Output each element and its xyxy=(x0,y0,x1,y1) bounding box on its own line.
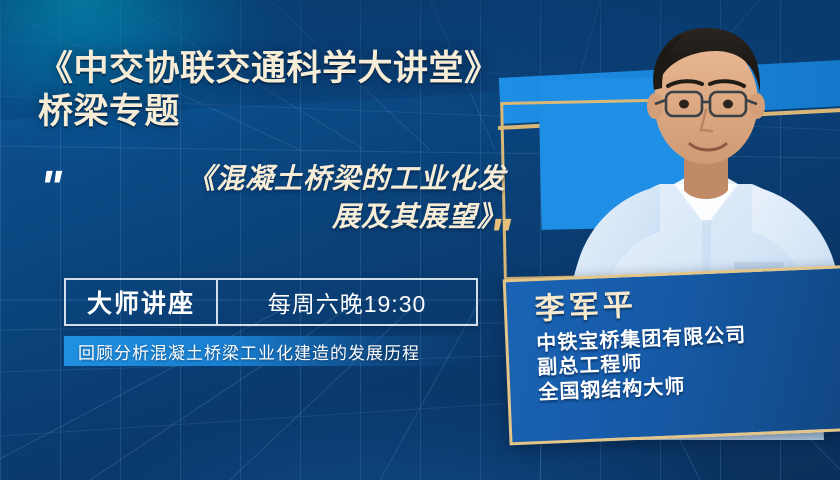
title-line-2: 桥梁专题 xyxy=(38,91,558,134)
lecture-badge: 大师讲座 xyxy=(66,280,218,324)
lecture-subtitle-block: " 《混凝土桥梁的工业化发 展及其展望》 " xyxy=(34,160,534,265)
speaker-name: 李军平 xyxy=(534,282,840,325)
quote-close-icon: " xyxy=(489,212,508,258)
lecture-subtitle: 《混凝土桥梁的工业化发 展及其展望》 xyxy=(86,160,506,235)
lecture-description: 回顾分析混凝土桥梁工业化建造的发展历程 xyxy=(64,339,420,364)
quote-open-icon: " xyxy=(40,164,59,210)
subtitle-line-1: 《混凝土桥梁的工业化发 xyxy=(187,163,506,194)
poster-canvas: 《中交协联交通科学大讲堂》 桥梁专题 " 《混凝土桥梁的工业化发 展及其展望》 … xyxy=(0,0,840,480)
title-line-1: 《中交协联交通科学大讲堂》 xyxy=(38,49,500,88)
lecture-description-bar: 回顾分析混凝土桥梁工业化建造的发展历程 xyxy=(64,336,476,366)
lecture-info-row: 大师讲座 每周六晚19:30 xyxy=(64,278,478,326)
subtitle-line-2: 展及其展望》 xyxy=(332,201,506,232)
lecture-schedule: 每周六晚19:30 xyxy=(218,280,476,324)
speaker-nameplate: 李军平 中铁宝桥集团有限公司 副总工程师 全国钢结构大师 xyxy=(503,265,840,446)
poster-main-title: 《中交协联交通科学大讲堂》 桥梁专题 xyxy=(38,48,558,133)
